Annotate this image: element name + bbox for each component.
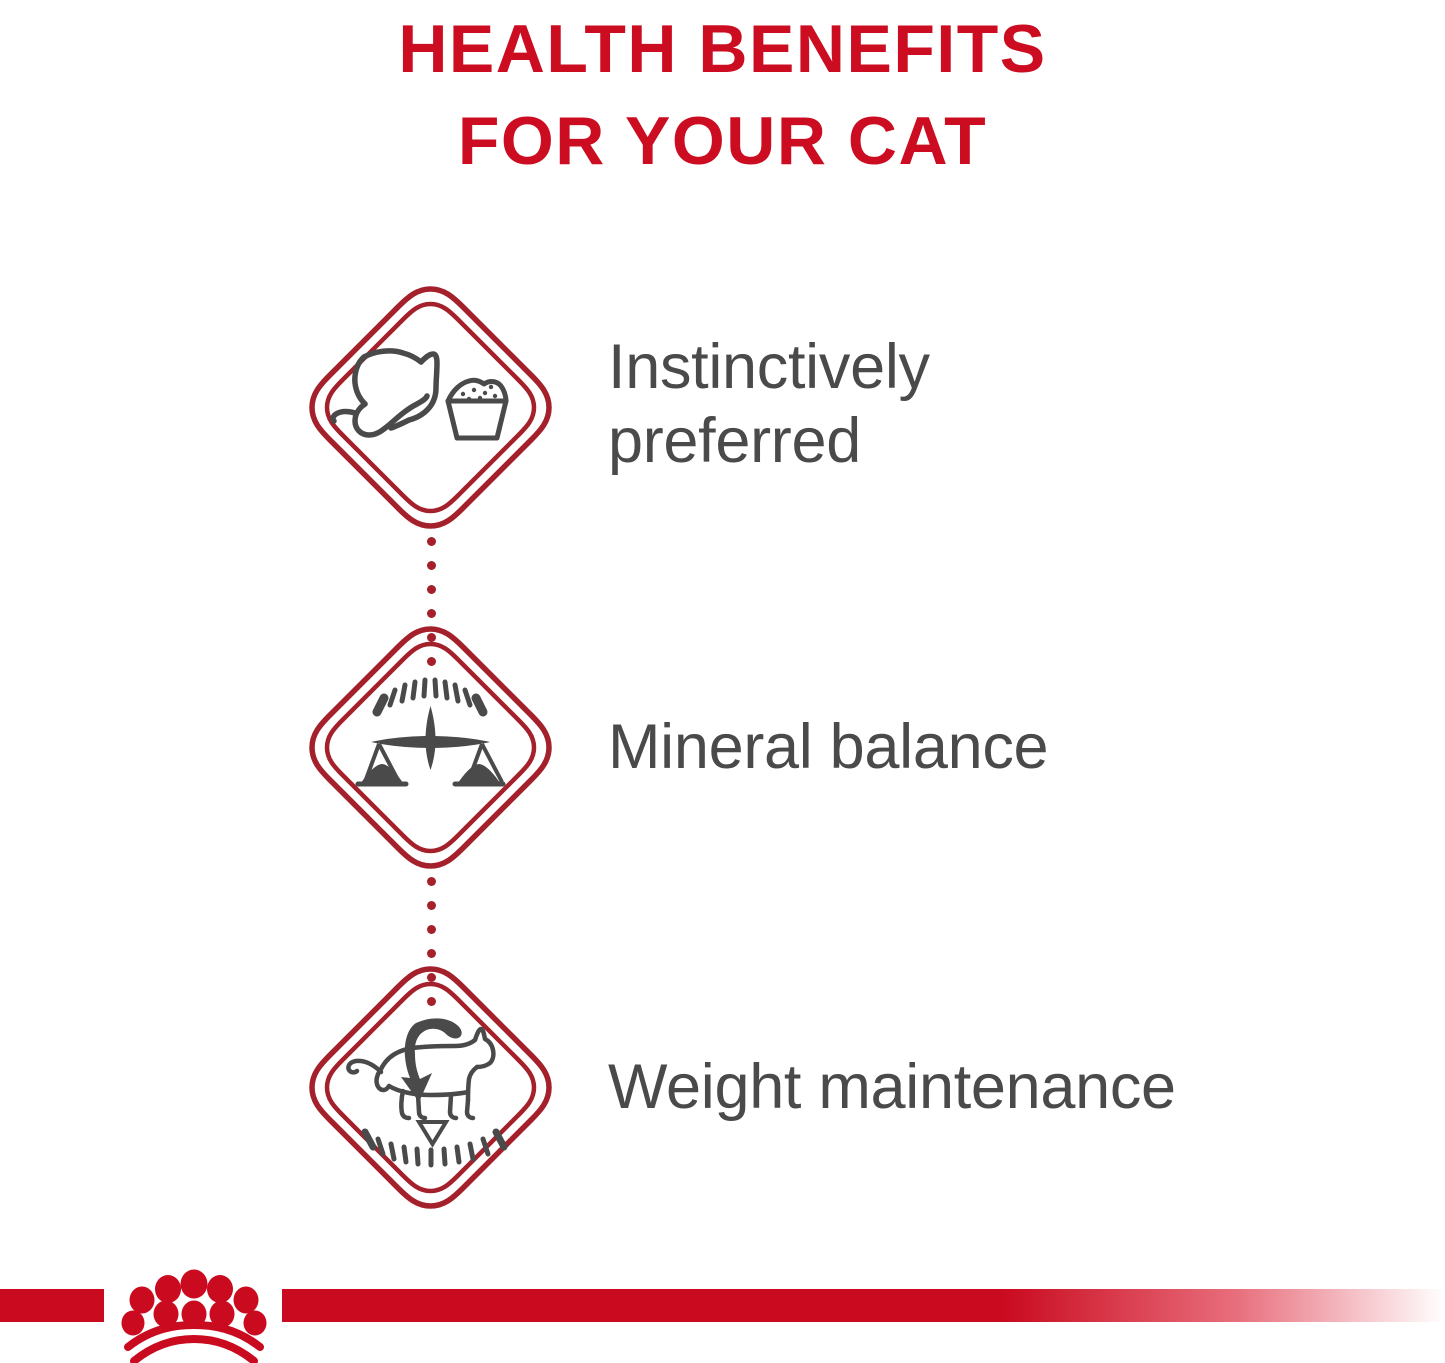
health-benefits-infographic: HEALTH BENEFITS FOR YOUR CAT	[0, 0, 1445, 1363]
connector-dot	[427, 949, 436, 958]
benefits-list: Instinctively preferred	[0, 272, 1445, 1292]
title-line-2: FOR YOUR CAT	[0, 96, 1445, 188]
footer-bar-right	[282, 1289, 1445, 1322]
connector-dot	[427, 901, 436, 910]
connector-dot	[427, 877, 436, 886]
benefit-item-mineral-balance: Mineral balance	[0, 612, 1445, 952]
title-line-1: HEALTH BENEFITS	[0, 4, 1445, 96]
benefit-label-mineral-balance: Mineral balance	[608, 710, 1048, 784]
benefit-item-weight-maintenance: Weight maintenance	[0, 952, 1445, 1292]
royal-canin-crown-logo	[104, 1263, 284, 1363]
connector-dot	[427, 633, 436, 642]
benefit-label-instinctively-preferred: Instinctively preferred	[608, 330, 930, 479]
connector-dot	[427, 537, 436, 546]
benefit-label-weight-maintenance: Weight maintenance	[608, 1050, 1176, 1124]
connector-dot	[427, 561, 436, 570]
footer	[0, 1263, 1445, 1363]
page-title: HEALTH BENEFITS FOR YOUR CAT	[0, 4, 1445, 188]
benefit-item-instinctively-preferred: Instinctively preferred	[0, 272, 1445, 612]
connector-dot	[427, 585, 436, 594]
badge-instinctively-preferred	[303, 280, 558, 535]
connector-dot	[427, 609, 436, 618]
connector-dot	[427, 997, 436, 1006]
connector-dot	[427, 657, 436, 666]
dotted-connector-1	[424, 537, 438, 666]
cat-eating-bowl-icon	[312, 289, 549, 526]
connector-dot	[427, 973, 436, 982]
connector-dot	[427, 925, 436, 934]
dotted-connector-2	[424, 877, 438, 1006]
footer-bar-left	[0, 1289, 104, 1322]
